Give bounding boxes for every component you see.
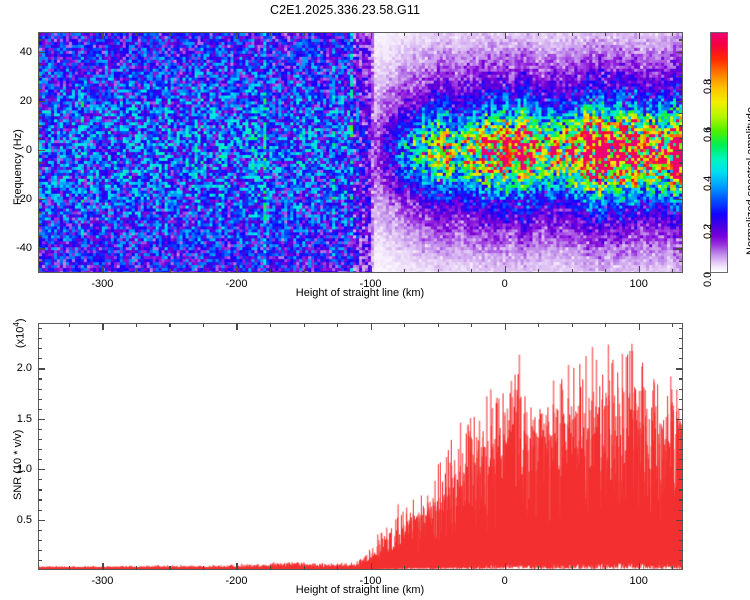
colorbar-tick-label: 0.4 [702,175,714,190]
colorbar-tick-label: 0.8 [702,79,714,94]
colorbar-tick-label: 0.0 [702,272,714,287]
snr-y-axis-title: SNR (10 * v/v) [12,430,24,500]
snr-x-axis-title: Height of straight line (km) [296,584,424,596]
snr-y-axis-exponent: (x104) [12,318,27,348]
snr-panel [38,323,683,570]
colorbar-title: Normalized spectral amplitude [745,107,750,255]
snr-trace [39,324,682,569]
colorbar-tick-label: 0.6 [702,127,714,142]
colorbar-tick-label: 0.2 [702,224,714,239]
